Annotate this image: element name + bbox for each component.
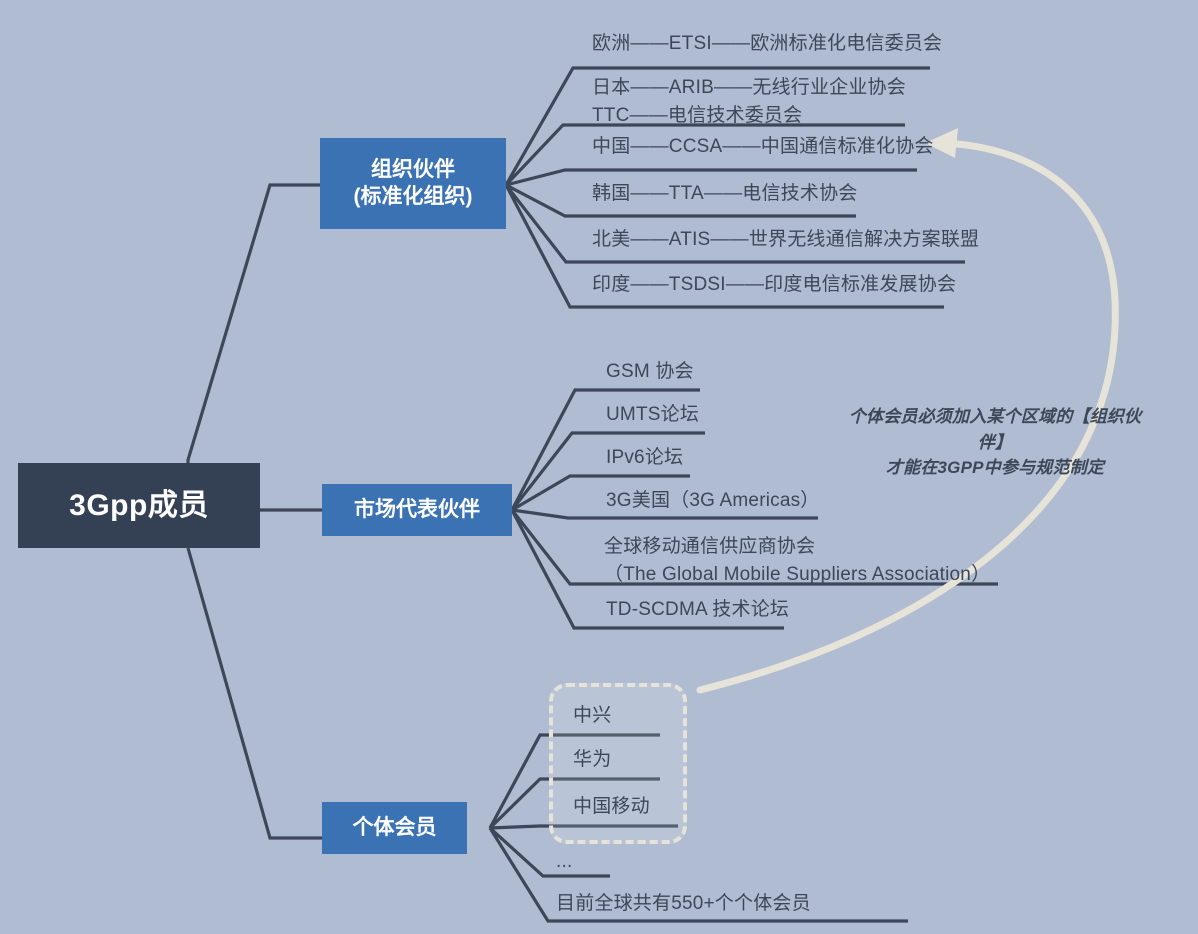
leaf-individual-ellipsis: ... [556,848,572,876]
leaf-org-atis[interactable]: 北美——ATIS——世界无线通信解决方案联盟 [592,226,979,254]
leaf-market-3g-americas[interactable]: 3G美国（3G Americas） [606,487,820,515]
branch-node-individual-members[interactable]: 个体会员 [322,802,467,854]
leaf-org-tta[interactable]: 韩国——TTA——电信技术协会 [592,180,857,208]
leaf-individual-zte[interactable]: 中兴 [573,702,611,730]
leaf-market-gsm[interactable]: GSM 协会 [606,358,694,386]
root-node[interactable]: 3Gpp成员 [18,463,260,548]
leaf-individual-china-mobile[interactable]: 中国移动 [573,793,650,821]
wire-root-to-individual [188,548,322,838]
leaf-market-ipv6[interactable]: IPv6论坛 [606,444,683,472]
mindmap-canvas: 3Gpp成员 组织伙伴 (标准化组织) 市场代表伙伴 个体会员 欧洲——ETSI… [0,0,1198,934]
branch-node-market-partners[interactable]: 市场代表伙伴 [322,484,512,536]
leaf-org-etsi[interactable]: 欧洲——ETSI——欧洲标准化电信委员会 [592,30,942,58]
leaf-org-ccsa[interactable]: 中国——CCSA——中国通信标准化协会 [592,133,934,161]
leaf-org-tsdsi[interactable]: 印度——TSDSI——印度电信标准发展协会 [592,271,956,299]
leaf-individual-huawei[interactable]: 华为 [573,746,611,774]
leaf-market-gsa[interactable]: 全球移动通信供应商协会 （The Global Mobile Suppliers… [604,533,990,588]
branch-node-organization-partners[interactable]: 组织伙伴 (标准化组织) [320,138,506,229]
leaf-market-td-scdma[interactable]: TD-SCDMA 技术论坛 [606,596,789,624]
leaf-individual-total-count[interactable]: 目前全球共有550+个个体会员 [556,890,811,918]
leaf-org-arib-ttc[interactable]: 日本——ARIB——无线行业企业协会 TTC——电信技术委员会 [592,74,906,129]
leaf-market-umts[interactable]: UMTS论坛 [606,401,699,429]
wire-root-to-org [188,185,320,463]
annotation-note: 个体会员必须加入某个区域的【组织伙伴】 才能在3GPP中参与规范制定 [845,404,1145,481]
